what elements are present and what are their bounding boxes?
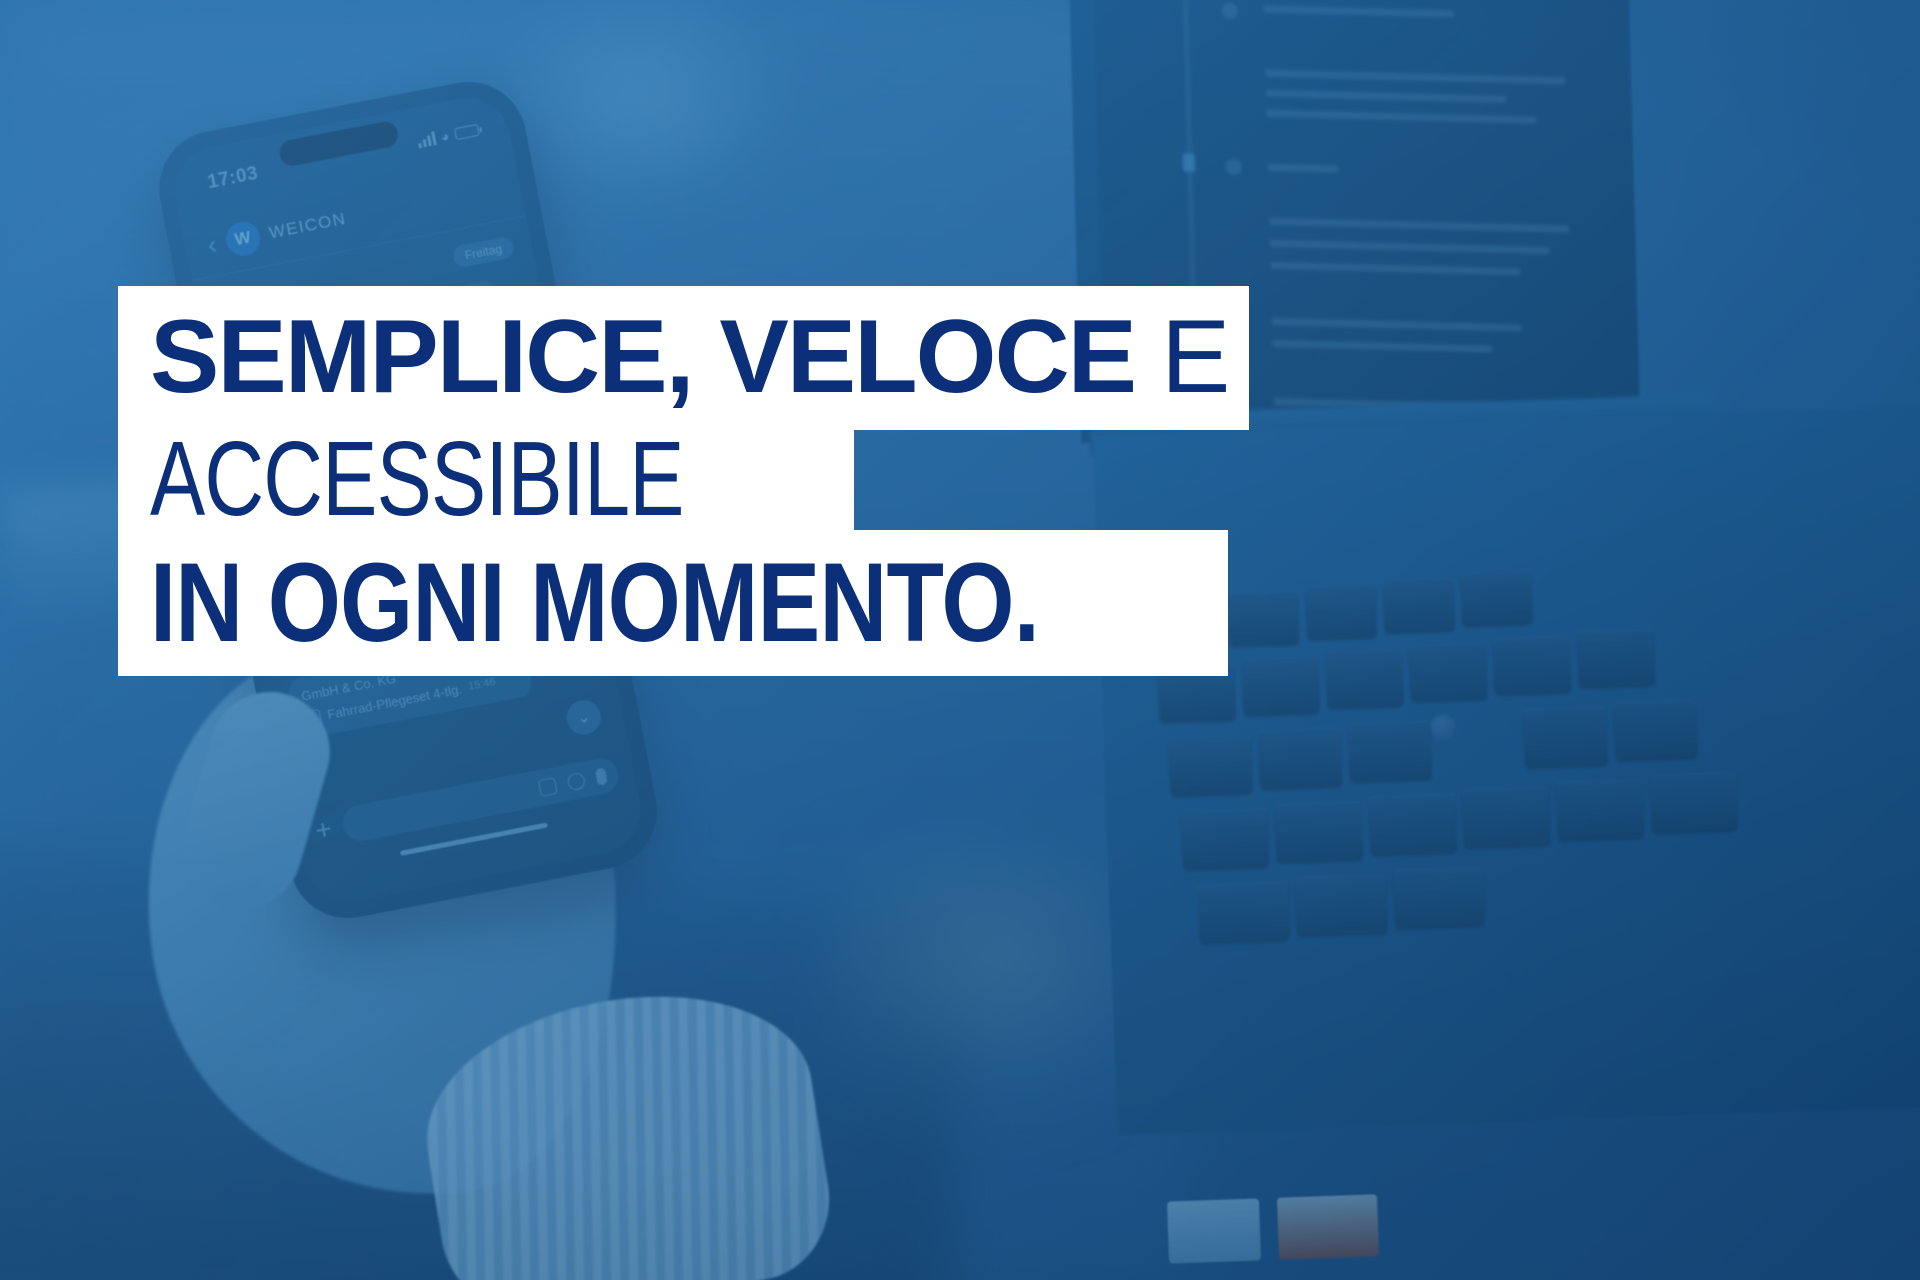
headline-line2: ACCESSIBILE [150,430,684,530]
banner-root: 17:03 ◕ ‹ W WEICON Freitag W [0,0,1920,1280]
headline-line3: IN OGNI MOMENTO. [150,550,1039,655]
headline-band-3: IN OGNI MOMENTO. [118,530,1228,676]
headline-group: SEMPLICE, VELOCE E ACCESSIBILE IN OGNI M… [0,0,1920,1280]
headline-line1-light: E [1161,309,1229,407]
headline-line1-bold: SEMPLICE, VELOCE [150,309,1135,407]
headline-band-2: ACCESSIBILE [118,430,854,530]
headline-band-1: SEMPLICE, VELOCE E [118,286,1249,430]
